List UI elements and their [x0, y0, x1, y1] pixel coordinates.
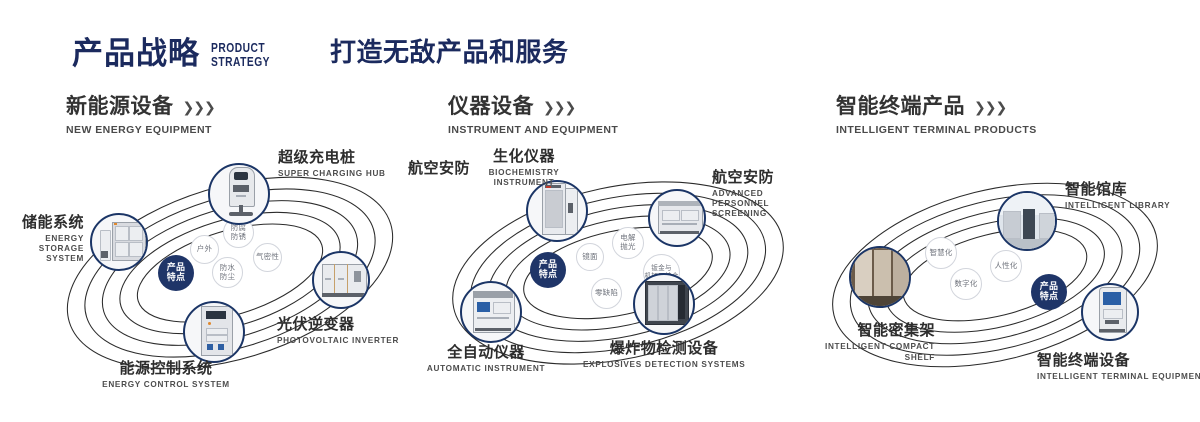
label-cn: 智能密集架: [811, 323, 935, 339]
label-energy-storage-system: 储能系统 ENERGY STORAGE SYSTEM: [8, 215, 84, 265]
node-biochemistry-instrument[interactable]: [526, 180, 588, 242]
label-en: INTELLIGENT LIBRARY: [1065, 201, 1170, 211]
page-title-cn: 产品战略: [72, 39, 200, 70]
label-aviation-security-left: 航空安防: [388, 161, 470, 177]
node-explosives-detection-systems[interactable]: [633, 273, 695, 335]
label-cn: 航空安防: [388, 161, 470, 177]
label-explosives-detection-systems: 爆炸物检测设备 EXPLOSIVES DETECTION SYSTEMS: [583, 341, 745, 370]
feature-bubble-intelligent: 智慧化: [925, 237, 957, 269]
label-cn: 超级充电桩: [278, 150, 386, 166]
feature-bubble-mirror: 镜面: [576, 243, 604, 271]
page-title-en: PRODUCT STRATEGY: [211, 39, 270, 68]
section-title-new-energy: 新能源设备 ❯❯❯ NEW ENERGY EQUIPMENT: [66, 96, 215, 136]
feature-text: 数字化: [954, 280, 977, 289]
label-photovoltaic-inverter: 光伏逆变器 PHOTOVOLTAIC INVERTER: [277, 317, 399, 346]
core-badge-product-features: 产品特点: [1031, 274, 1067, 310]
section-title-instrument: 仪器设备 ❯❯❯ INSTRUMENT AND EQUIPMENT: [448, 96, 618, 136]
feature-text: 人性化: [994, 262, 1017, 271]
node-intelligent-library[interactable]: [997, 191, 1057, 251]
feature-bubble-electropolishing: 电解抛光: [612, 227, 644, 259]
feature-bubble-digitalized: 数字化: [950, 268, 982, 300]
node-automatic-instrument[interactable]: [460, 281, 522, 343]
label-cn: 智能馆库: [1065, 182, 1170, 198]
label-en: ENERGY STORAGE SYSTEM: [8, 234, 84, 265]
label-en: INTELLIGENT TERMINAL EQUIPMENT: [1037, 372, 1200, 382]
page-title-en-line2: STRATEGY: [211, 56, 270, 69]
feature-bubble-outdoor: 户外: [190, 235, 219, 264]
core-line2: 特点: [539, 270, 558, 280]
section-title-intelligent-terminal: 智能终端产品 ❯❯❯ INTELLIGENT TERMINAL PRODUCTS: [836, 96, 1037, 136]
node-advanced-personnel-screening[interactable]: [648, 189, 706, 247]
label-intelligent-compact-shelf: 智能密集架 INTELLIGENT COMPACT SHELF: [811, 323, 935, 363]
page-title: 产品战略 PRODUCT STRATEGY: [72, 26, 283, 82]
section-title-cn: 智能终端产品: [836, 96, 965, 117]
core-badge-product-features: 产品特点: [158, 255, 194, 291]
chevron-right-icon: ❯❯❯: [183, 101, 215, 117]
label-en: ADVANCED PERSONNEL SCREENING: [712, 189, 808, 220]
chevron-right-icon: ❯❯❯: [543, 101, 575, 117]
feature-bubble-humanized: 人性化: [990, 250, 1022, 282]
section-title-en: NEW ENERGY EQUIPMENT: [66, 124, 215, 136]
section-title-en: INTELLIGENT TERMINAL PRODUCTS: [836, 124, 1037, 136]
label-cn: 能源控制系统: [86, 361, 246, 377]
label-cn: 航空安防: [712, 170, 808, 186]
feature-bubble-waterproof: 防水防尘: [212, 257, 243, 288]
section-title-cn: 新能源设备: [66, 96, 174, 117]
feature-text: 户外: [197, 245, 212, 254]
core-line1: 产品: [1040, 282, 1059, 292]
label-en: AUTOMATIC INSTRUMENT: [424, 364, 548, 374]
section-title-cn: 仪器设备: [448, 96, 534, 117]
slide-canvas: 产品战略 PRODUCT STRATEGY 打造无敌产品和服务 新能源设备 ❯❯…: [0, 0, 1200, 422]
node-energy-storage-system[interactable]: [90, 213, 148, 271]
label-intelligent-library: 智能馆库 INTELLIGENT LIBRARY: [1065, 182, 1170, 211]
label-energy-control-system: 能源控制系统 ENERGY CONTROL SYSTEM: [86, 361, 246, 390]
feature-text: 零缺陷: [595, 289, 618, 298]
diagram-new-energy: 产品特点 户外 防腐防锈 防水防尘 气密性: [40, 155, 420, 390]
section-title-en: INSTRUMENT AND EQUIPMENT: [448, 124, 618, 136]
node-intelligent-compact-shelf[interactable]: [849, 246, 911, 308]
feature-bubble-airtight: 气密性: [253, 243, 282, 272]
label-en: EXPLOSIVES DETECTION SYSTEMS: [583, 360, 745, 370]
core-line1: 产品: [167, 263, 186, 273]
label-cn: 储能系统: [8, 215, 84, 231]
label-automatic-instrument: 全自动仪器 AUTOMATIC INSTRUMENT: [424, 345, 548, 374]
label-en: SUPER CHARGING HUB: [278, 169, 386, 179]
feature-text: 镜面: [582, 253, 597, 262]
core-line2: 特点: [167, 273, 186, 283]
feature-text: 智慧化: [929, 249, 952, 258]
node-intelligent-terminal-equipment[interactable]: [1081, 283, 1139, 341]
core-line1: 产品: [539, 260, 558, 270]
label-en: BIOCHEMISTRY INSTRUMENT: [464, 168, 584, 189]
label-en: PHOTOVOLTAIC INVERTER: [277, 336, 399, 346]
diagram-instrument: 产品特点 镜面 电解抛光 零缺陷 钣金与机加工结合: [430, 155, 810, 390]
label-cn: 全自动仪器: [424, 345, 548, 361]
feature-bubble-zero-defect: 零缺陷: [591, 278, 622, 309]
node-energy-control-system[interactable]: [183, 301, 245, 363]
node-photovoltaic-inverter[interactable]: [312, 251, 370, 309]
feature-text: 气密性: [256, 253, 279, 262]
label-en: ENERGY CONTROL SYSTEM: [86, 380, 246, 390]
label-cn: 光伏逆变器: [277, 317, 399, 333]
label-super-charging-hub: 超级充电桩 SUPER CHARGING HUB: [278, 150, 386, 179]
label-advanced-personnel-screening: 航空安防 ADVANCED PERSONNEL SCREENING: [712, 170, 808, 220]
label-intelligent-terminal-equipment: 智能终端设备 INTELLIGENT TERMINAL EQUIPMENT: [1037, 353, 1200, 382]
page-subtitle: 打造无敌产品和服务: [330, 32, 569, 69]
chevron-right-icon: ❯❯❯: [974, 101, 1006, 117]
label-en-line1: INTELLIGENT COMPACT: [811, 342, 935, 352]
core-line2: 特点: [1040, 292, 1059, 302]
label-en-line2: SHELF: [811, 353, 935, 363]
label-cn: 爆炸物检测设备: [583, 341, 745, 357]
label-cn: 生化仪器: [464, 149, 584, 165]
node-super-charging-hub[interactable]: [208, 163, 270, 225]
label-biochemistry-instrument: 生化仪器 BIOCHEMISTRY INSTRUMENT: [464, 149, 584, 188]
label-cn: 智能终端设备: [1037, 353, 1200, 369]
core-badge-product-features: 产品特点: [530, 252, 566, 288]
diagram-intelligent-terminal: 产品特点 智慧化 人性化 数字化: [815, 155, 1195, 390]
